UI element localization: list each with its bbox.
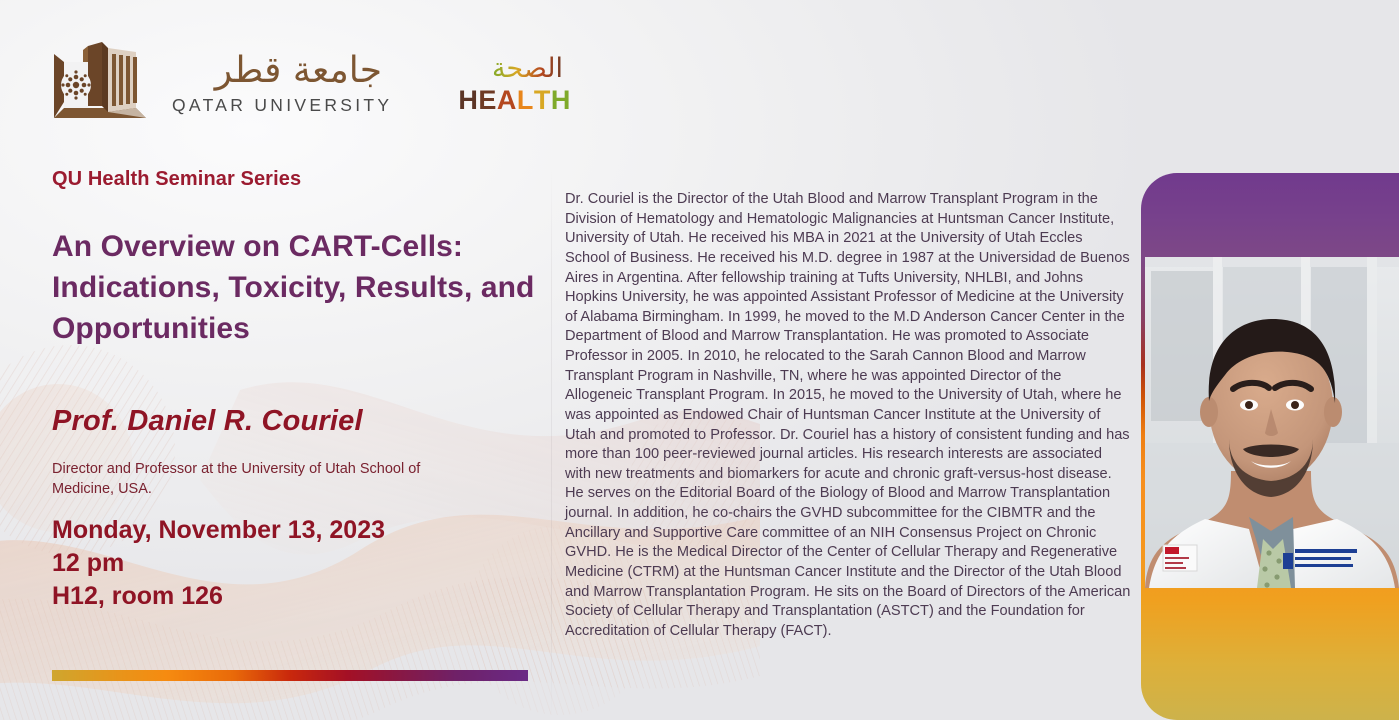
accent-gradient-bar	[52, 670, 528, 681]
speaker-portrait-image	[1145, 257, 1399, 588]
seminar-location: H12, room 126	[52, 580, 552, 613]
health-letter-2: A	[497, 87, 517, 114]
health-english-wordmark: HEALTH	[458, 87, 571, 114]
health-letter-3: L	[517, 87, 534, 114]
speaker-name: Prof. Daniel R. Couriel	[52, 405, 552, 438]
health-letter-4: T	[534, 87, 551, 114]
seminar-details-column: QU Health Seminar Series An Overview on …	[52, 168, 552, 614]
qatar-university-arabic-wordmark-icon: جامعة قطر	[180, 47, 385, 93]
speaker-photo-frame	[1145, 257, 1399, 588]
qatar-university-logo-icon	[50, 40, 150, 122]
qu-health-logo: الصحة HEALTH	[458, 49, 571, 114]
health-letter-5: H	[551, 87, 571, 114]
health-letter-0: H	[458, 87, 478, 114]
seminar-title: An Overview on CART-Cells: Indications, …	[52, 227, 552, 349]
seminar-series-label: QU Health Seminar Series	[52, 168, 552, 191]
seminar-date: Monday, November 13, 2023	[52, 514, 552, 547]
health-arabic-text: الصحة	[492, 53, 563, 84]
qatar-university-english-text: QATAR UNIVERSITY	[172, 95, 392, 116]
poster-canvas: جامعة قطر QATAR UNIVERSITY الصحة HEALTH	[0, 0, 1399, 720]
health-letter-1: E	[478, 87, 497, 114]
qatar-university-wordmark: جامعة قطر QATAR UNIVERSITY	[172, 47, 392, 116]
health-arabic-wordmark-icon: الصحة	[465, 49, 565, 85]
logo-bar: جامعة قطر QATAR UNIVERSITY الصحة HEALTH	[50, 40, 571, 122]
seminar-time: 12 pm	[52, 547, 552, 580]
column-divider	[551, 166, 552, 720]
speaker-photo-panel	[1141, 173, 1399, 720]
speaker-affiliation: Director and Professor at the University…	[52, 460, 482, 499]
speaker-biography-text: Dr. Couriel is the Director of the Utah …	[565, 190, 1131, 641]
speaker-biography-column: Dr. Couriel is the Director of the Utah …	[565, 190, 1131, 641]
qatar-university-arabic-text: جامعة قطر	[212, 50, 381, 91]
